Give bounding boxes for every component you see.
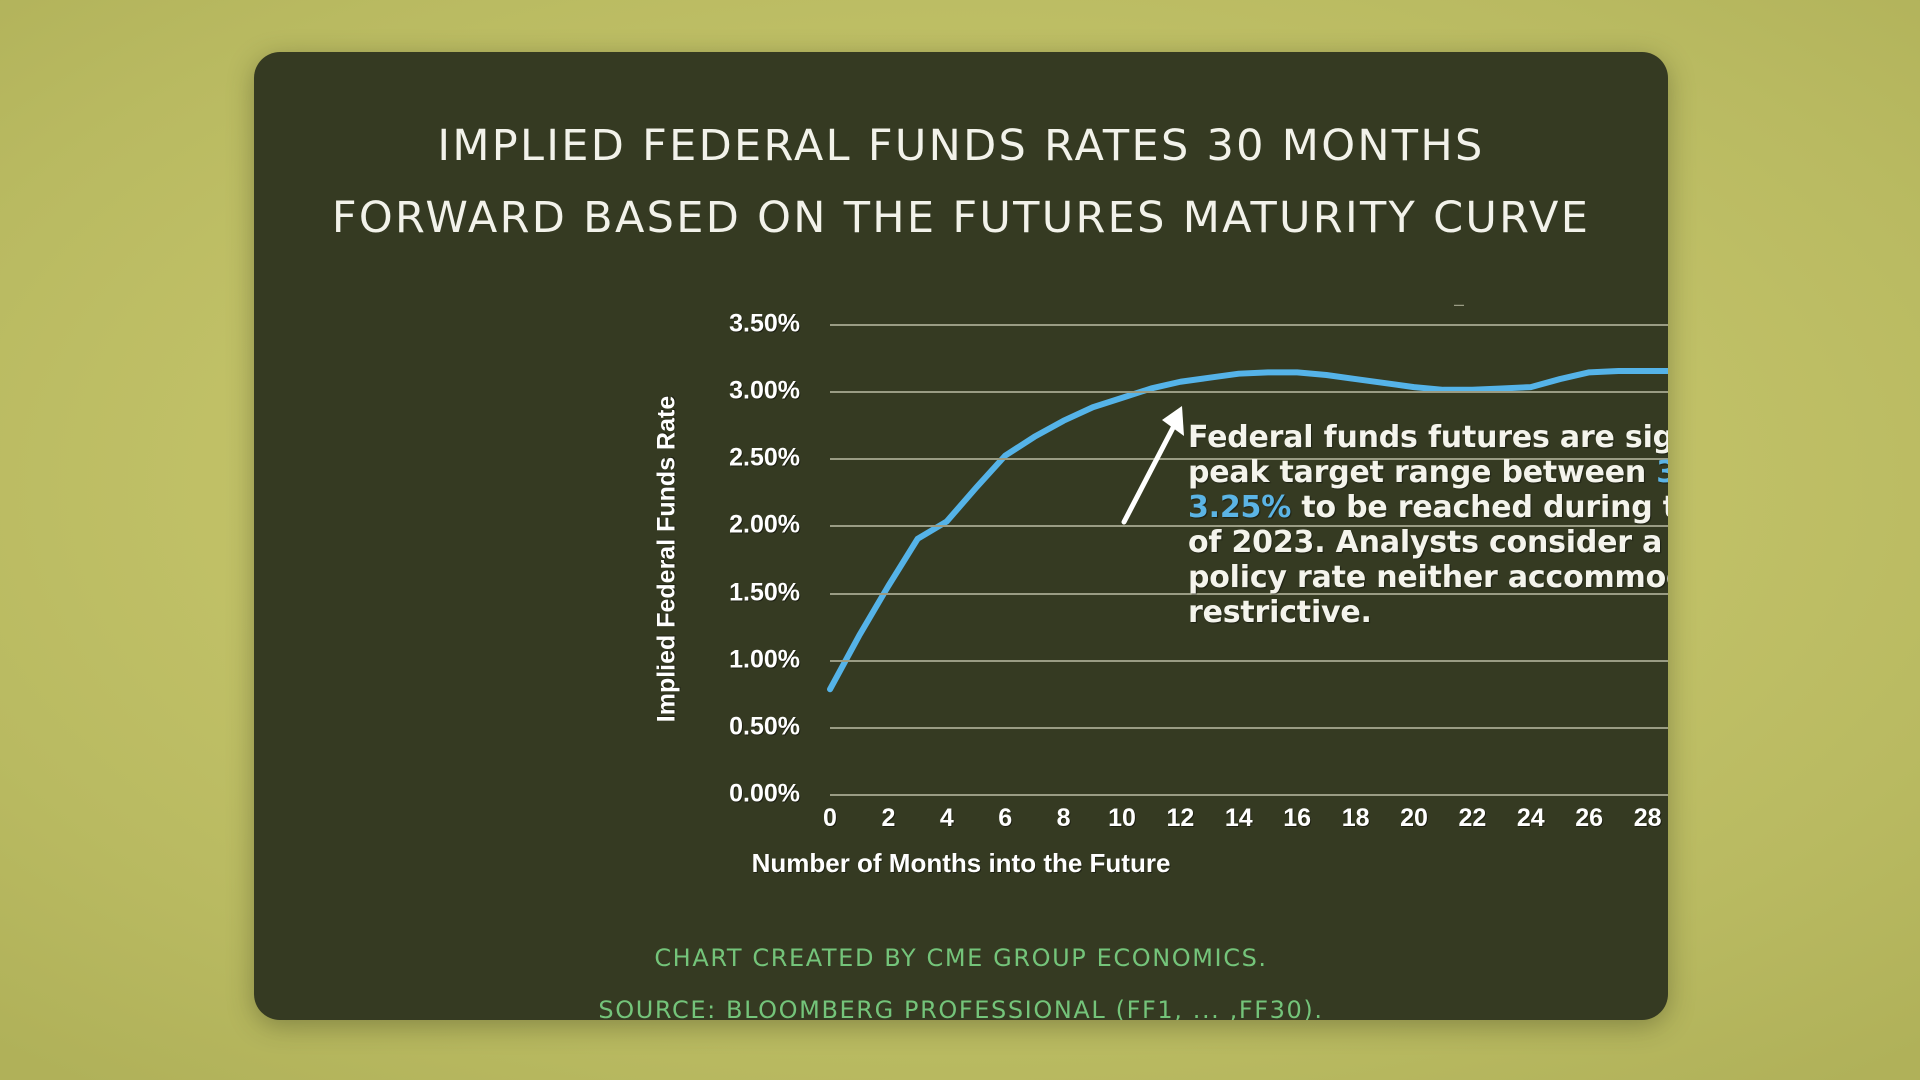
y-tick-label: 0.50% bbox=[729, 712, 800, 741]
chart-title: IMPLIED FEDERAL FUNDS RATES 30 MONTHS FO… bbox=[254, 110, 1668, 254]
x-tick-label: 10 bbox=[1108, 804, 1136, 833]
y-tick-label: 1.50% bbox=[729, 578, 800, 607]
gridline bbox=[830, 391, 1668, 393]
y-axis-ticks: 3.50%3.00%2.50%2.00%1.50%1.00%0.50%0.00% bbox=[694, 324, 814, 794]
y-tick-label: 2.50% bbox=[729, 444, 800, 473]
x-tick-label: 18 bbox=[1342, 804, 1370, 833]
annotation-highlight-low: 3.00% bbox=[1656, 455, 1668, 490]
chart-title-line-2: FORWARD BASED ON THE FUTURES MATURITY CU… bbox=[254, 182, 1668, 254]
y-axis-title-label: Implied Federal Funds Rate bbox=[653, 396, 682, 722]
footer-source: SOURCE: BLOOMBERG PROFESSIONAL (FF1, ...… bbox=[254, 984, 1668, 1020]
x-tick-label: 16 bbox=[1283, 804, 1311, 833]
up-right-arrow-icon bbox=[1114, 400, 1194, 530]
x-axis-title: Number of Months into the Future bbox=[254, 848, 1668, 879]
x-tick-label: 20 bbox=[1400, 804, 1428, 833]
x-tick-label: 22 bbox=[1458, 804, 1486, 833]
x-tick-label: 14 bbox=[1225, 804, 1253, 833]
y-tick-label: 3.50% bbox=[729, 310, 800, 339]
x-tick-label: 26 bbox=[1575, 804, 1603, 833]
x-tick-label: 6 bbox=[998, 804, 1012, 833]
gridline bbox=[830, 660, 1668, 662]
x-tick-label: 8 bbox=[1057, 804, 1071, 833]
chart-title-line-1: IMPLIED FEDERAL FUNDS RATES 30 MONTHS bbox=[254, 110, 1668, 182]
y-axis-title: Implied Federal Funds Rate bbox=[647, 324, 687, 794]
gridline bbox=[830, 727, 1668, 729]
annotation-highlight-high: 3.25% bbox=[1188, 490, 1291, 525]
gridline bbox=[830, 324, 1668, 326]
x-tick-label: 24 bbox=[1517, 804, 1545, 833]
annotation-segment-1: Federal funds futures are signalling a p… bbox=[1188, 420, 1668, 490]
chart-footer: CHART CREATED BY CME GROUP ECONOMICS. SO… bbox=[254, 932, 1668, 1020]
x-tick-label: 2 bbox=[881, 804, 895, 833]
x-tick-label: 12 bbox=[1166, 804, 1194, 833]
x-tick-label: 0 bbox=[823, 804, 837, 833]
x-tick-label: 4 bbox=[940, 804, 954, 833]
y-tick-label: 2.00% bbox=[729, 511, 800, 540]
y-tick-label: 0.00% bbox=[729, 780, 800, 809]
x-axis-ticks: 024681012141618202224262830 bbox=[830, 804, 1668, 842]
chart-screenshot: IMPLIED FEDERAL FUNDS RATES 30 MONTHS FO… bbox=[0, 0, 1920, 1080]
annotation-text: Federal funds futures are signalling a p… bbox=[1188, 420, 1668, 630]
decorative-dash: – bbox=[1454, 294, 1464, 315]
y-tick-label: 3.00% bbox=[729, 377, 800, 406]
x-tick-label: 28 bbox=[1634, 804, 1662, 833]
chart-card: IMPLIED FEDERAL FUNDS RATES 30 MONTHS FO… bbox=[254, 52, 1668, 1020]
gridline bbox=[830, 794, 1668, 796]
footer-credit: CHART CREATED BY CME GROUP ECONOMICS. bbox=[254, 932, 1668, 984]
y-tick-label: 1.00% bbox=[729, 645, 800, 674]
